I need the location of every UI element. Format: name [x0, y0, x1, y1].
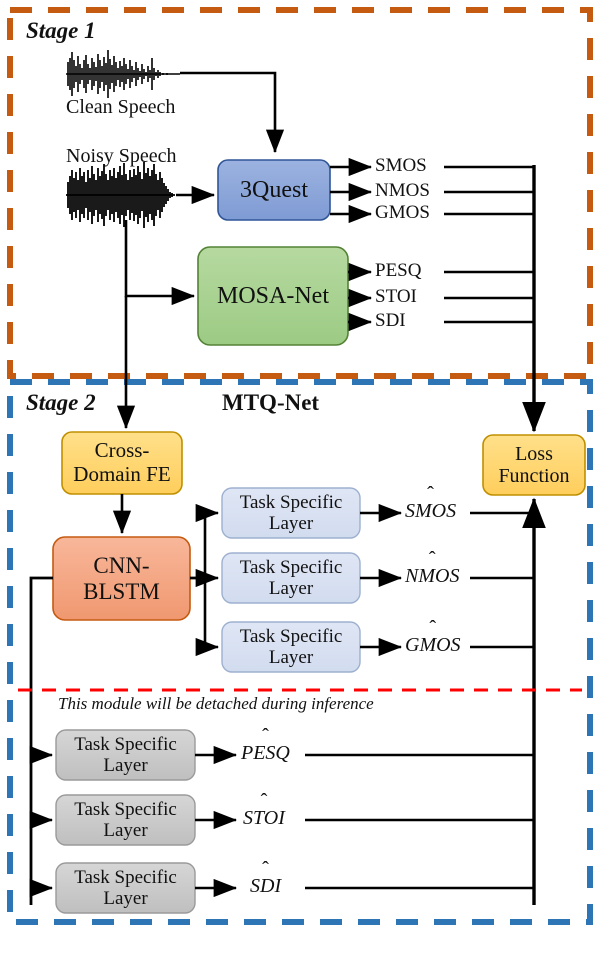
predicted-sdi: ̂SDI — [250, 875, 281, 898]
stage2-label: Stage 2 — [26, 390, 96, 416]
predicted-sdi-text: SDI — [250, 875, 281, 897]
predicted-gmos-text: GMOS — [405, 634, 461, 656]
predicted-nmos: ̂NMOS — [405, 565, 459, 588]
diagram-canvas: Stage 1 Stage 2 MTQ-Net This module will… — [0, 0, 600, 970]
fanout-trained-1 — [190, 513, 218, 578]
predicted-gmos: ̂GMOS — [405, 634, 461, 657]
noisy-speech-label: Noisy Speech — [66, 145, 177, 168]
detached-left-rail — [31, 578, 53, 905]
clean-to-3quest-arrow — [180, 73, 275, 152]
task-layer-stoi[interactable] — [56, 795, 195, 845]
block-loss-function[interactable] — [483, 435, 585, 495]
predicted-stoi: ̂STOI — [243, 807, 285, 830]
output-label-pesq: PESQ — [375, 260, 421, 282]
fanout-trained-3 — [205, 578, 218, 647]
predicted-smos-text: SMOS — [405, 500, 456, 522]
clean-speech-waveform — [66, 50, 180, 98]
output-label-smos: SMOS — [375, 155, 427, 177]
task-layer-nmos[interactable] — [222, 553, 360, 603]
mtq-net-title: MTQ-Net — [222, 390, 319, 416]
output-label-gmos: GMOS — [375, 202, 430, 224]
block-mosa-net[interactable] — [198, 247, 348, 345]
predicted-pesq: ̂PESQ — [241, 742, 290, 765]
output-label-sdi: SDI — [375, 310, 406, 332]
predicted-nmos-text: NMOS — [405, 565, 459, 587]
task-layer-pesq[interactable] — [56, 730, 195, 780]
block-cnn-blstm[interactable] — [53, 537, 190, 620]
block-cross-domain-fe[interactable] — [62, 432, 182, 494]
predicted-smos: ̂SMOS — [405, 500, 456, 523]
output-label-nmos: NMOS — [375, 180, 430, 202]
clean-speech-label: Clean Speech — [66, 96, 175, 119]
task-layer-smos[interactable] — [222, 488, 360, 538]
stage1-label: Stage 1 — [26, 18, 96, 44]
noisy-speech-waveform — [66, 162, 175, 228]
detach-note: This module will be detached during infe… — [58, 694, 374, 714]
task-layer-sdi[interactable] — [56, 863, 195, 913]
block-3quest[interactable] — [218, 160, 330, 220]
predicted-stoi-text: STOI — [243, 807, 285, 829]
noisy-to-mosanet-arrow — [126, 220, 194, 296]
output-label-stoi: STOI — [375, 286, 417, 308]
task-layer-gmos[interactable] — [222, 622, 360, 672]
predicted-pesq-text: PESQ — [241, 742, 290, 764]
